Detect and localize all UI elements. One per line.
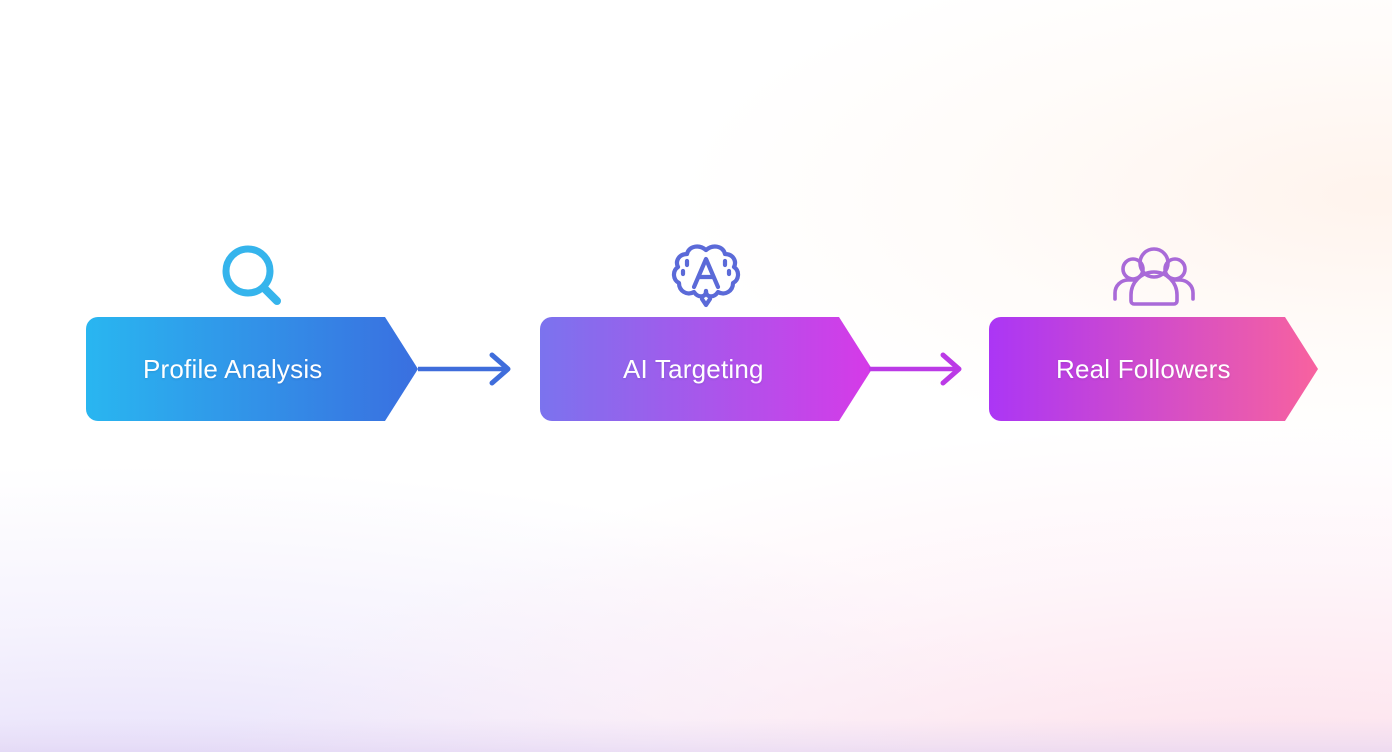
process-flow: Profile Analysis	[0, 0, 1392, 752]
process-step-real-followers[interactable]: Real Followers	[989, 317, 1318, 421]
magnifier-icon	[86, 245, 418, 309]
process-step-ai-targeting[interactable]: AI Targeting	[540, 317, 872, 421]
step-label-3: Real Followers	[1056, 317, 1231, 421]
connector-arrow-1	[418, 317, 513, 421]
diagram-canvas: Profile Analysis	[0, 0, 1392, 752]
connector-arrow-2	[869, 317, 964, 421]
process-step-profile-analysis[interactable]: Profile Analysis	[86, 317, 418, 421]
step-label-1: Profile Analysis	[143, 317, 323, 421]
step-label-2: AI Targeting	[623, 317, 764, 421]
brain-ai-icon	[540, 245, 872, 309]
people-group-icon	[989, 245, 1318, 309]
